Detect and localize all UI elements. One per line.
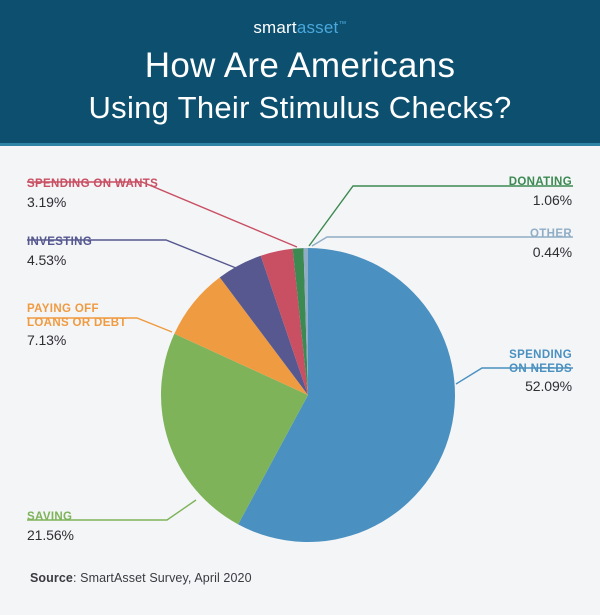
callout-value-investing: 4.53% xyxy=(27,252,92,269)
callout-other: OTHER 0.44% xyxy=(530,228,572,260)
smartasset-logo: smartasset™ xyxy=(0,18,600,38)
callout-donating: DONATING 1.06% xyxy=(509,176,572,208)
infographic-root: smartasset™ How Are Americans Using Thei… xyxy=(0,0,600,615)
callout-label-paying-off-loans-line2: LOANS OR DEBT xyxy=(27,317,127,331)
callout-saving: SAVING 21.56% xyxy=(27,511,74,543)
source-label: Source xyxy=(30,571,73,585)
callout-label-spending-on-needs-line2: ON NEEDS xyxy=(509,363,572,377)
callout-spending-on-needs: SPENDING ON NEEDS 52.09% xyxy=(509,349,572,395)
source-note: Source: SmartAsset Survey, April 2020 xyxy=(30,571,252,585)
callout-label-spending-on-needs-line1: SPENDING xyxy=(509,349,572,363)
callout-label-paying-off-loans-line1: PAYING OFF xyxy=(27,303,127,317)
callout-value-spending-on-wants: 3.19% xyxy=(27,194,158,211)
logo-smart-text: smart xyxy=(253,18,297,37)
logo-trademark-icon: ™ xyxy=(338,19,346,28)
logo-asset-text: asset xyxy=(297,18,339,37)
header-banner: smartasset™ How Are Americans Using Thei… xyxy=(0,0,600,143)
page-title-line1: How Are Americans xyxy=(0,48,600,85)
callout-label-saving: SAVING xyxy=(27,511,74,525)
callout-label-spending-on-wants: SPENDING ON WANTS xyxy=(27,178,158,192)
callout-value-saving: 21.56% xyxy=(27,527,74,544)
callout-label-donating: DONATING xyxy=(509,176,572,190)
callout-investing: INVESTING 4.53% xyxy=(27,236,92,268)
callout-value-other: 0.44% xyxy=(530,244,572,261)
pie-slices xyxy=(161,248,455,542)
callout-value-donating: 1.06% xyxy=(509,192,572,209)
callout-value-paying-off-loans: 7.13% xyxy=(27,332,127,349)
callout-paying-off-loans: PAYING OFF LOANS OR DEBT 7.13% xyxy=(27,303,127,349)
source-text: SmartAsset Survey, April 2020 xyxy=(80,571,252,585)
page-title-line2: Using Their Stimulus Checks? xyxy=(0,92,600,125)
callout-value-spending-on-needs: 52.09% xyxy=(509,378,572,395)
callout-label-investing: INVESTING xyxy=(27,236,92,250)
callout-label-other: OTHER xyxy=(530,228,572,242)
callout-spending-on-wants: SPENDING ON WANTS 3.19% xyxy=(27,178,158,210)
